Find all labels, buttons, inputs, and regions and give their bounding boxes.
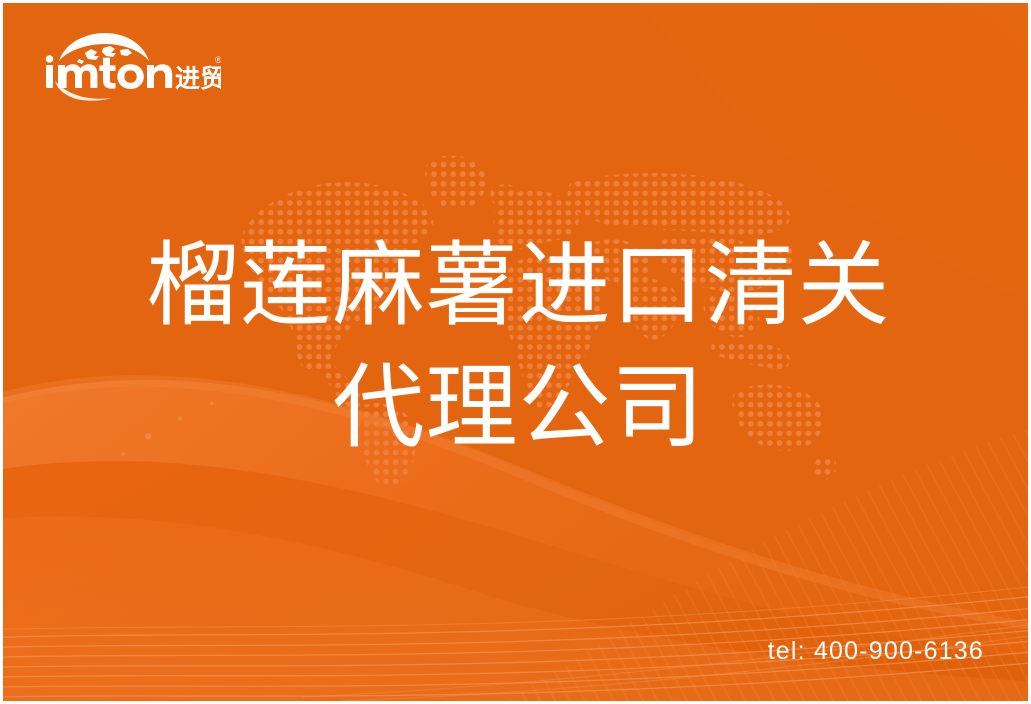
imton-wordmark: [46, 55, 173, 89]
contact-phone: tel: 400-900-6136: [768, 637, 984, 666]
imton-logo[interactable]: 进贸通 ®: [41, 31, 221, 101]
promo-banner: 进贸通 ® 榴莲麻薯进口清关 代理公司 tel: 400-900-6136: [0, 0, 1031, 704]
logo-chinese-text: 进贸通: [175, 65, 221, 93]
headline-line-2: 代理公司: [3, 347, 1031, 469]
page-title: 榴莲麻薯进口清关 代理公司: [3, 225, 1031, 469]
headline-line-1: 榴莲麻薯进口清关: [3, 225, 1031, 347]
registered-trademark-symbol: ®: [215, 55, 221, 65]
